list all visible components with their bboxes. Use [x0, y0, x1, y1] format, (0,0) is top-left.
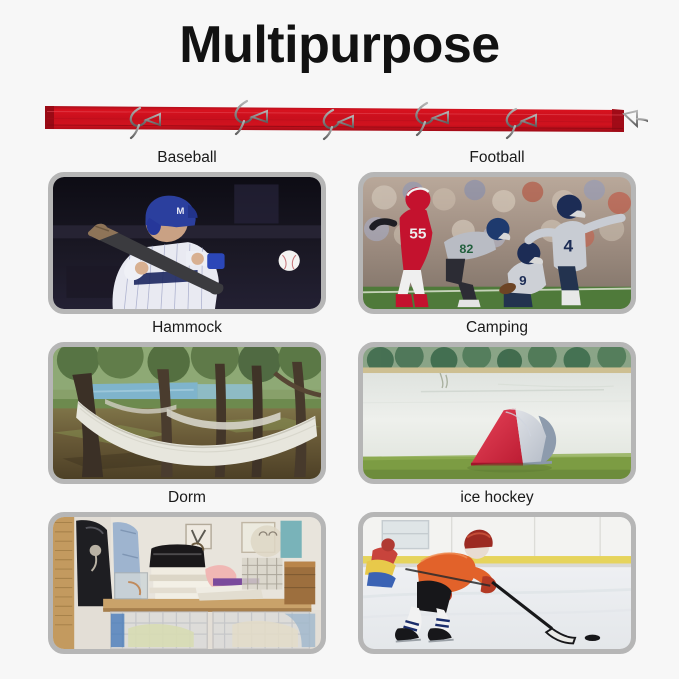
- gallery-caption: Hammock: [42, 316, 332, 342]
- svg-text:55: 55: [409, 226, 426, 243]
- gallery-item-football[interactable]: Football: [352, 146, 642, 318]
- svg-text:M: M: [176, 206, 184, 217]
- football-field-goal-photo: 55 82: [363, 177, 631, 309]
- gallery-item-dorm[interactable]: Dorm: [42, 486, 332, 658]
- photo-frame: M: [48, 172, 326, 314]
- gallery-caption: Football: [352, 146, 642, 172]
- photo-frame: [358, 342, 636, 484]
- dorm-storage-photo: [53, 517, 321, 649]
- gallery-caption: ice hockey: [352, 486, 642, 512]
- hammock-trees-photo: [53, 347, 321, 479]
- svg-text:9: 9: [519, 273, 527, 288]
- camping-tent-photo: [363, 347, 631, 479]
- gallery-item-camping[interactable]: Camping: [352, 316, 642, 488]
- strap-illustration: [36, 92, 648, 144]
- ice-hockey-player-photo: [363, 517, 631, 649]
- gallery-item-baseball[interactable]: Baseball: [42, 146, 332, 318]
- use-case-gallery: Baseball: [0, 146, 679, 671]
- photo-frame: [48, 342, 326, 484]
- gallery-item-hammock[interactable]: Hammock: [42, 316, 332, 488]
- gallery-caption: Dorm: [42, 486, 332, 512]
- svg-text:82: 82: [459, 242, 473, 256]
- page-title: Multipurpose: [0, 14, 679, 76]
- photo-frame: [48, 512, 326, 654]
- gallery-item-ice-hockey[interactable]: ice hockey: [352, 486, 642, 658]
- svg-text:4: 4: [564, 237, 574, 256]
- baseball-batter-photo: M: [53, 177, 321, 309]
- photo-frame: [358, 512, 636, 654]
- photo-frame: 55 82: [358, 172, 636, 314]
- gallery-caption: Baseball: [42, 146, 332, 172]
- gallery-caption: Camping: [352, 316, 642, 342]
- product-infographic: Multipurpose: [0, 0, 679, 679]
